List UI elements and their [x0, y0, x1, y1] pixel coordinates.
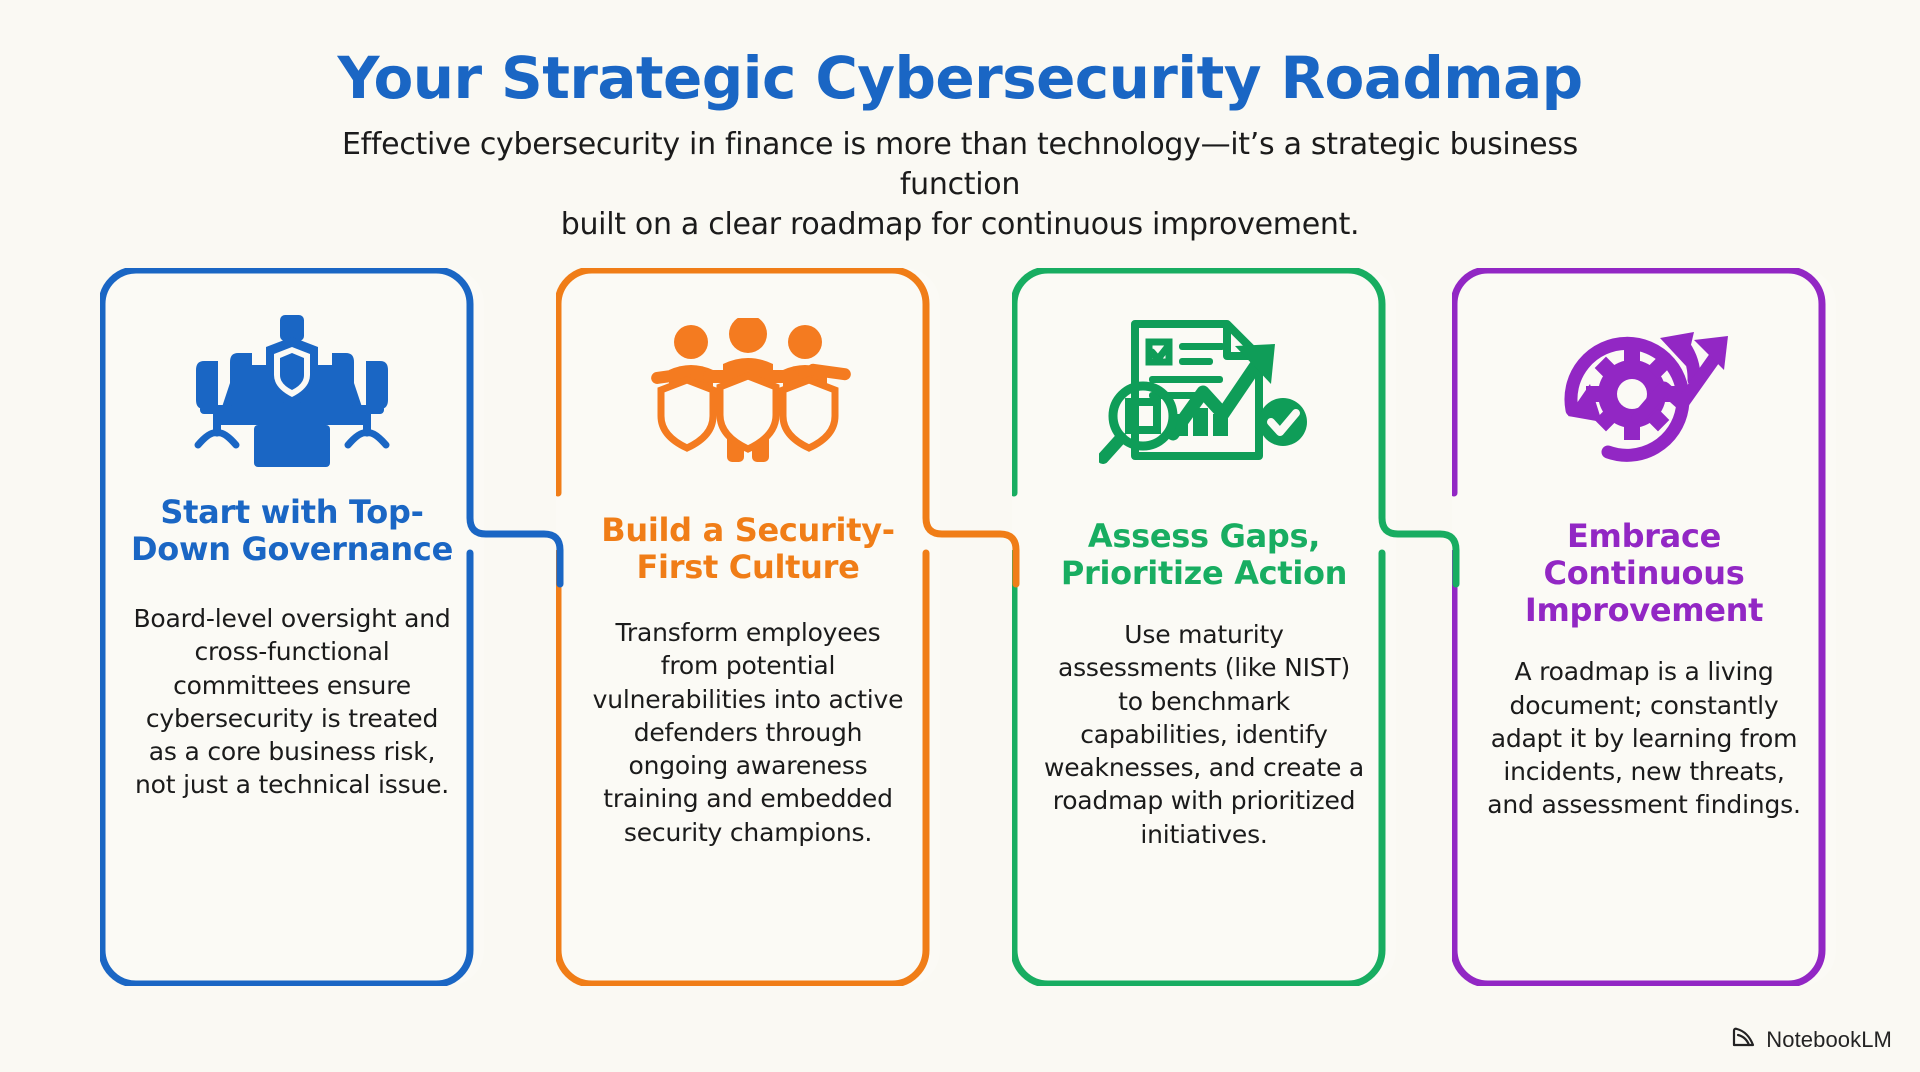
card-body: Board-level oversight and cross-function… — [132, 602, 452, 802]
notebooklm-logo-icon — [1731, 1026, 1757, 1054]
infographic-canvas: Your Strategic Cybersecurity Roadmap Eff… — [0, 0, 1920, 1072]
gear-cycle-arrows-icon — [1544, 308, 1744, 478]
card-body: Use maturity assessments (like NIST) to … — [1044, 618, 1364, 851]
page-subtitle: Effective cybersecurity in finance is mo… — [290, 125, 1630, 244]
people-with-shields-icon — [643, 308, 853, 478]
card-title: Build a Security-First Culture — [582, 512, 914, 586]
roadmap-card-assess-gaps-prioritize-action[interactable]: Assess Gaps, Prioritize Action Use matur… — [1012, 268, 1396, 986]
boardroom-table-shield-icon — [192, 308, 392, 478]
roadmap-card-embrace-continuous-improvement[interactable]: Embrace Continuous Improvement A roadmap… — [1452, 268, 1836, 986]
roadmap-cards-row: Start with Top-Down Governance Board-lev… — [0, 268, 1920, 998]
card-body: Transform employees from potential vulne… — [588, 616, 908, 849]
notebooklm-label: NotebookLM — [1766, 1027, 1892, 1053]
page-title: Your Strategic Cybersecurity Roadmap — [0, 48, 1920, 109]
card-title: Embrace Continuous Improvement — [1478, 518, 1810, 629]
subtitle-line-2: built on a clear roadmap for continuous … — [290, 205, 1630, 245]
card-title: Start with Top-Down Governance — [126, 494, 458, 568]
header: Your Strategic Cybersecurity Roadmap Eff… — [0, 48, 1920, 244]
roadmap-card-build-a-security-first-culture[interactable]: Build a Security-First Culture Transform… — [556, 268, 940, 986]
notebooklm-watermark: NotebookLM — [1731, 1026, 1892, 1054]
card-body: A roadmap is a living document; constant… — [1484, 655, 1804, 821]
subtitle-line-1: Effective cybersecurity in finance is mo… — [290, 125, 1630, 204]
document-magnifier-growth-chart-icon — [1099, 308, 1309, 478]
card-title: Assess Gaps, Prioritize Action — [1038, 518, 1370, 592]
roadmap-card-start-with-top-down-governance[interactable]: Start with Top-Down Governance Board-lev… — [100, 268, 484, 986]
